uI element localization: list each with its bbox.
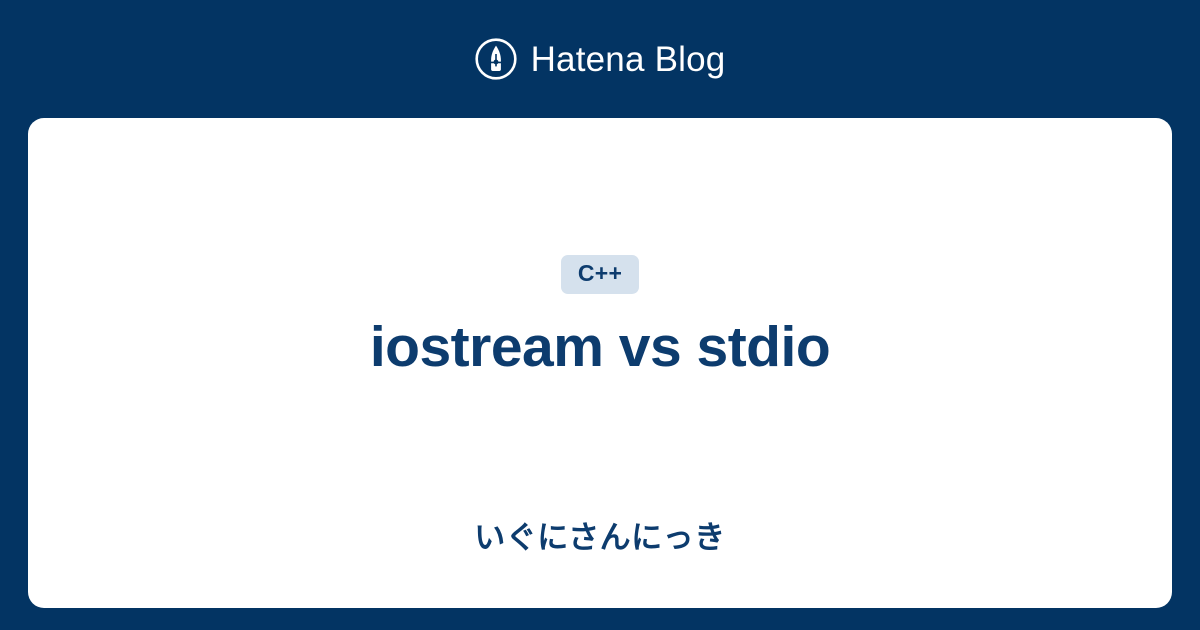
entry-card: C++ iostream vs stdio いぐにさんにっき [28, 118, 1172, 608]
fountain-pen-nib-circle-icon [475, 38, 517, 80]
hatena-blog-logo [475, 38, 517, 80]
category-tag[interactable]: C++ [561, 255, 639, 294]
entry-title: iostream vs stdio [370, 316, 830, 379]
site-brand-name: Hatena Blog [531, 42, 726, 77]
entry-card-content: C++ iostream vs stdio いぐにさんにっき [28, 118, 1172, 556]
category-tag-row: C++ [561, 255, 639, 294]
blog-title: いぐにさんにっき [474, 519, 725, 556]
site-brand-header: Hatena Blog [0, 0, 1200, 118]
